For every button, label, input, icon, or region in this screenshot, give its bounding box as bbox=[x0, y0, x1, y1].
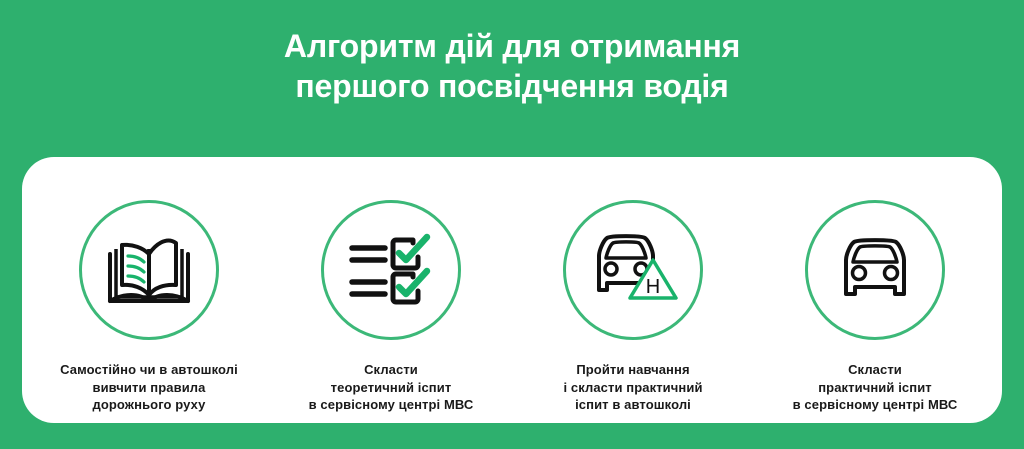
car-icon bbox=[835, 237, 915, 303]
step-1: Самостійно чи в автошколі вивчити правил… bbox=[28, 157, 270, 414]
step-4: Скласти практичний іспит в сервісному це… bbox=[754, 157, 996, 414]
step-2-caption-line-1: Скласти bbox=[309, 361, 474, 379]
step-3-caption-line-1: Пройти навчання bbox=[563, 361, 702, 379]
steps-card: Самостійно чи в автошколі вивчити правил… bbox=[22, 157, 1002, 423]
step-4-caption: Скласти практичний іспит в сервісному це… bbox=[793, 361, 958, 414]
step-4-caption-line-1: Скласти bbox=[793, 361, 958, 379]
step-3-caption-line-3: іспит в автошколі bbox=[563, 396, 702, 414]
step-2-caption-line-3: в сервісному центрі МВС bbox=[309, 396, 474, 414]
step-2-caption-line-2: теоретичний іспит bbox=[309, 379, 474, 397]
step-3-caption-line-2: і скласти практичний bbox=[563, 379, 702, 397]
page-title: Алгоритм дій для отримання першого посві… bbox=[0, 26, 1024, 106]
title-line-2: першого посвідчення водія bbox=[0, 66, 1024, 106]
step-2-icon-circle bbox=[321, 200, 461, 340]
step-2-caption: Скласти теоретичний іспит в сервісному ц… bbox=[309, 361, 474, 414]
title-line-1: Алгоритм дій для отримання bbox=[0, 26, 1024, 66]
step-1-caption: Самостійно чи в автошколі вивчити правил… bbox=[60, 361, 238, 414]
step-1-caption-line-1: Самостійно чи в автошколі bbox=[60, 361, 238, 379]
step-3-caption: Пройти навчання і скласти практичний ісп… bbox=[563, 361, 702, 414]
step-4-caption-line-3: в сервісному центрі МВС bbox=[793, 396, 958, 414]
checklist-icon bbox=[349, 232, 433, 308]
learner-sign-letter: Н bbox=[646, 276, 660, 298]
step-1-caption-line-3: дорожнього руху bbox=[60, 396, 238, 414]
step-1-icon-circle bbox=[79, 200, 219, 340]
step-4-caption-line-2: практичний іспит bbox=[793, 379, 958, 397]
step-3: Н Пройти навчання і скласти практичний і… bbox=[512, 157, 754, 414]
car-with-learner-sign-icon: Н bbox=[587, 233, 679, 307]
steps-container: Самостійно чи в автошколі вивчити правил… bbox=[22, 157, 1002, 423]
infographic-root: Алгоритм дій для отримання першого посві… bbox=[0, 0, 1024, 449]
step-1-caption-line-2: вивчити правила bbox=[60, 379, 238, 397]
step-2: Скласти теоретичний іспит в сервісному ц… bbox=[270, 157, 512, 414]
open-book-icon bbox=[106, 231, 192, 309]
step-3-icon-circle: Н bbox=[563, 200, 703, 340]
step-4-icon-circle bbox=[805, 200, 945, 340]
